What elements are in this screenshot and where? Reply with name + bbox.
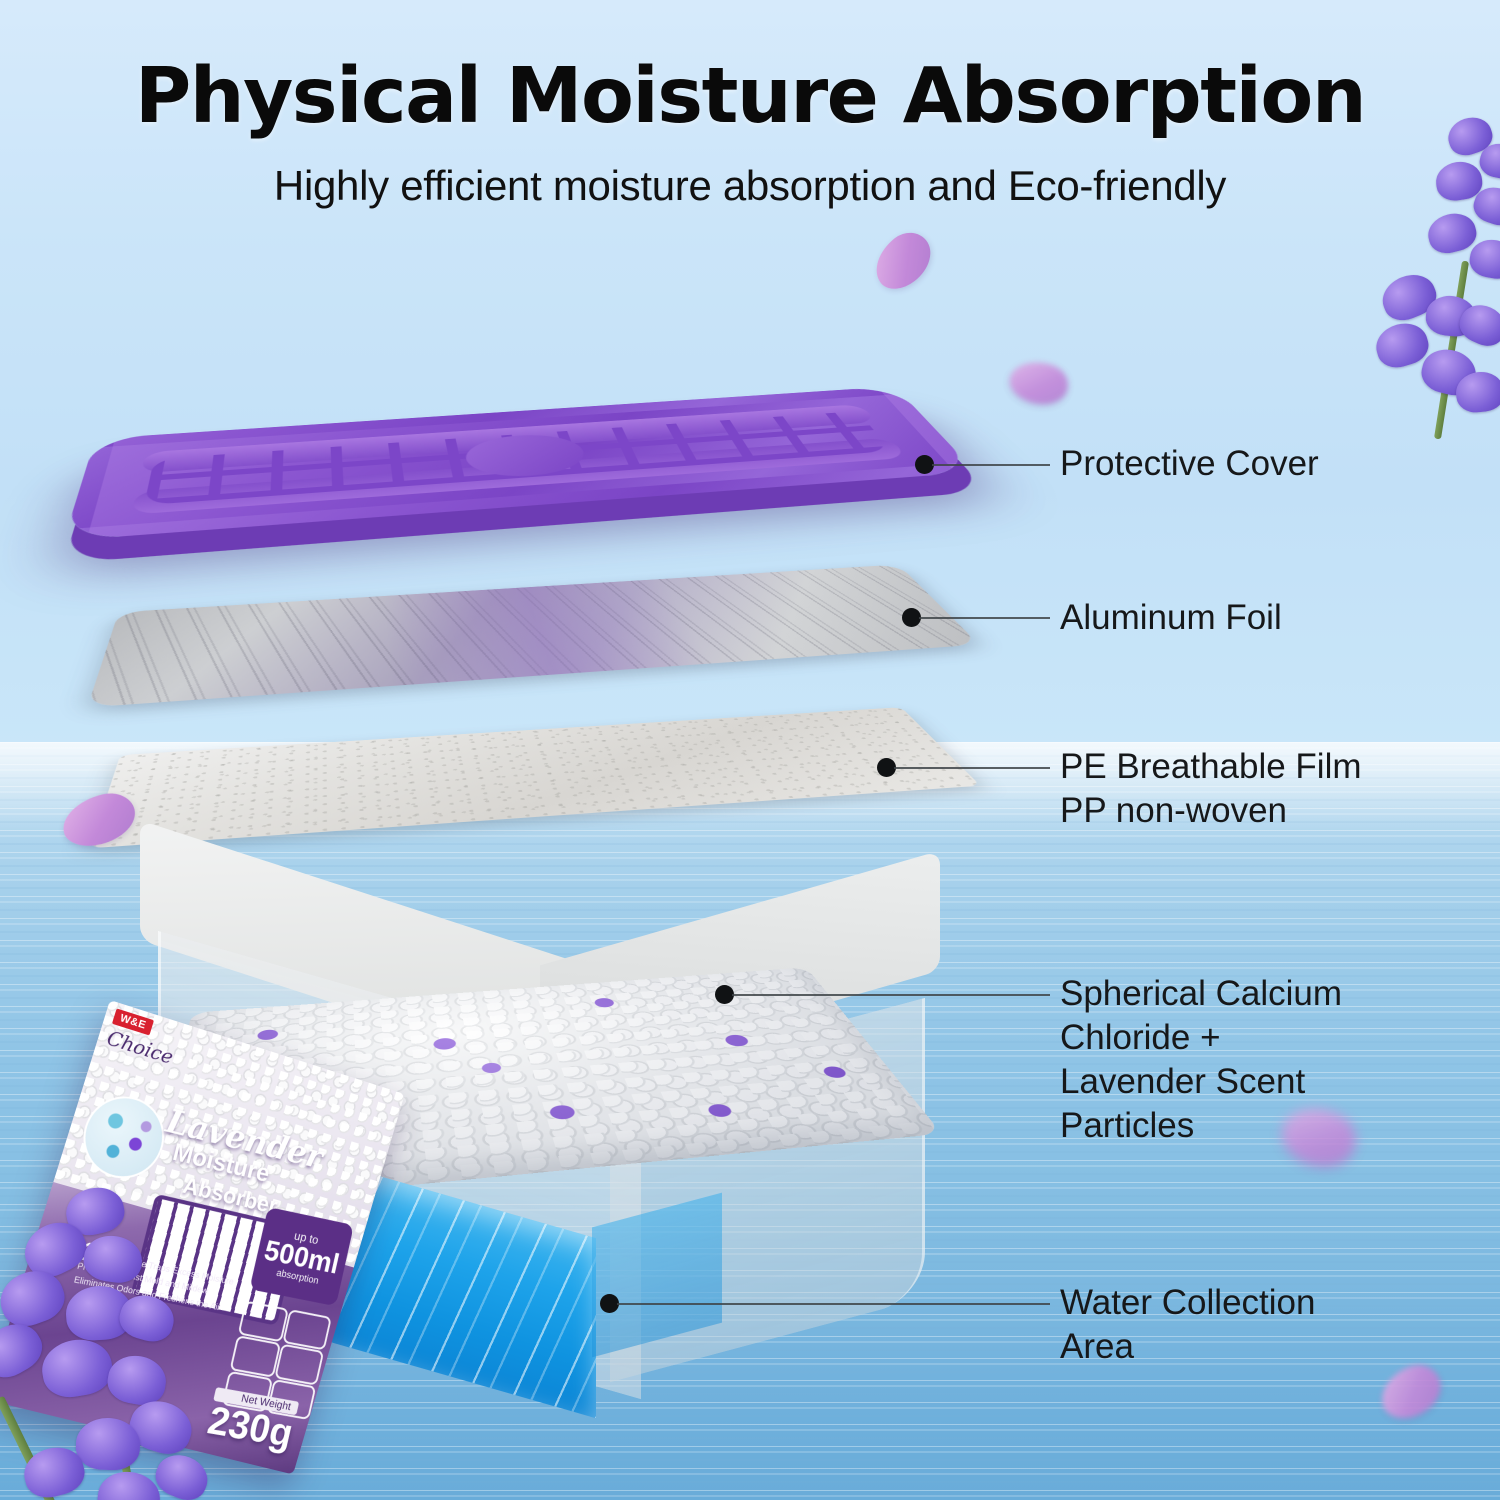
callout-aluminum-foil: Aluminum Foil — [1060, 596, 1282, 640]
callout-protective-cover: Protective Cover — [1060, 442, 1319, 486]
page-subtitle: Highly efficient moisture absorption and… — [0, 162, 1500, 210]
lavender-floret — [104, 1351, 169, 1408]
leader-line-protective-cover — [932, 464, 1050, 466]
leader-line-aluminum-foil — [919, 617, 1050, 619]
infographic-canvas: Physical Moisture Absorption Highly effi… — [0, 0, 1500, 1500]
lavender-floret — [38, 1334, 117, 1401]
lavender-floret — [95, 1468, 163, 1500]
page-title: Physical Moisture Absorption — [0, 52, 1500, 141]
lavender-sprig-top-right — [1352, 110, 1500, 440]
lavender-floret — [150, 1448, 214, 1500]
lavender-floret — [81, 1232, 145, 1286]
leader-line-calcium-chloride — [732, 994, 1050, 996]
shoe-icon — [274, 1344, 324, 1386]
lavender-sprig-bottom-left — [0, 1180, 270, 1500]
callout-pe-breathable-film: PE Breathable Film PP non-woven — [1060, 745, 1362, 833]
callout-water-collection: Water Collection Area — [1060, 1281, 1315, 1369]
leader-line-pe-film — [894, 767, 1050, 769]
leader-line-water-collection — [617, 1303, 1050, 1305]
